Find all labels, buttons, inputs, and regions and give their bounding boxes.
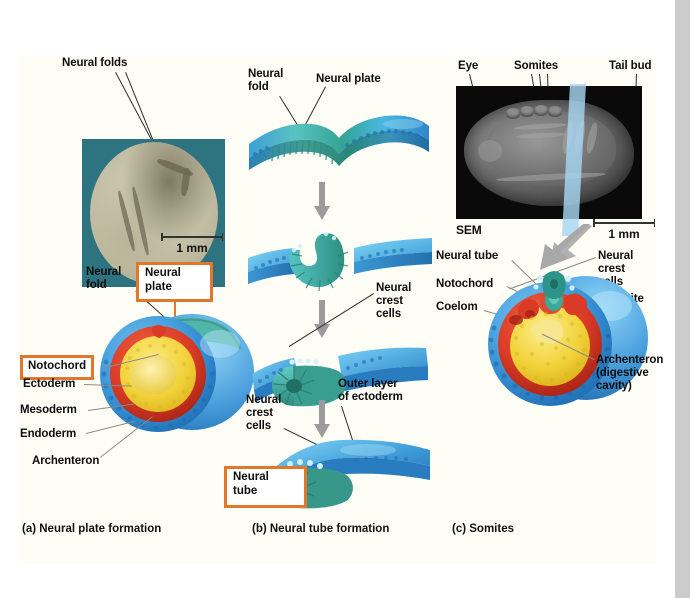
scale-bar-c-line	[593, 222, 655, 224]
sem-somite-4	[548, 106, 562, 117]
scale-bar-a-label: 1 mm	[176, 241, 207, 255]
highlight-neural-tube: Neural tube	[224, 466, 307, 508]
label-b-neural-plate: Neural plate	[316, 73, 381, 86]
label-b-neural-fold: Neural fold	[248, 68, 283, 94]
sem-somite-2	[520, 106, 534, 117]
label-b-neural-crest-cells-top: Neural crest cells	[376, 282, 411, 321]
label-b-neural-crest-cells-bottom: Neural crest cells	[246, 394, 281, 433]
sem-eye-region	[478, 140, 502, 162]
page-scrollbar[interactable]	[675, 0, 690, 598]
figure-panel: Neural folds 1 mm Neura	[18, 56, 656, 564]
scale-bar-c-label: 1 mm	[608, 227, 639, 241]
stage-arrow-2-icon	[314, 300, 330, 338]
caption-panel-c: (c) Somites	[452, 523, 514, 535]
label-sem: SEM	[456, 224, 482, 237]
scale-bar-c-tick-right	[654, 219, 656, 227]
label-a-mesoderm: Mesoderm	[20, 404, 77, 417]
label-neural-folds: Neural folds	[62, 57, 127, 70]
sem-micrograph	[456, 86, 642, 219]
scale-bar-a-tick-right	[222, 233, 224, 241]
label-a-endoderm: Endoderm	[20, 428, 76, 441]
label-b-outer-layer: Outer layer of ectoderm	[338, 378, 403, 404]
highlight-notochord: Notochord	[20, 355, 94, 380]
figure-page: Neural folds 1 mm Neura	[0, 0, 690, 598]
label-a-ectoderm: Ectoderm	[23, 378, 75, 391]
embryo-cross-section-c	[470, 254, 660, 430]
caption-panel-b: (b) Neural tube formation	[252, 523, 389, 535]
stage-arrow-1-icon	[314, 182, 330, 220]
label-a-neural-fold: Neural fold	[86, 266, 121, 292]
stage-1-neural-plate	[243, 104, 433, 180]
label-c-tail-bud: Tail bud	[609, 60, 651, 73]
label-c-somites: Somites	[514, 60, 558, 73]
label-a-archenteron: Archenteron	[32, 455, 99, 468]
caption-panel-a: (a) Neural plate formation	[22, 523, 161, 535]
scale-bar-a-tick-left	[161, 233, 163, 241]
sem-somite-3	[534, 105, 548, 116]
scale-bar-a-line	[161, 236, 223, 238]
label-c-archenteron: Archenteron (digestive cavity)	[596, 354, 663, 393]
label-c-eye: Eye	[458, 60, 478, 73]
leader-neural-folds-1	[115, 72, 153, 141]
sem-somite-1	[506, 108, 520, 119]
